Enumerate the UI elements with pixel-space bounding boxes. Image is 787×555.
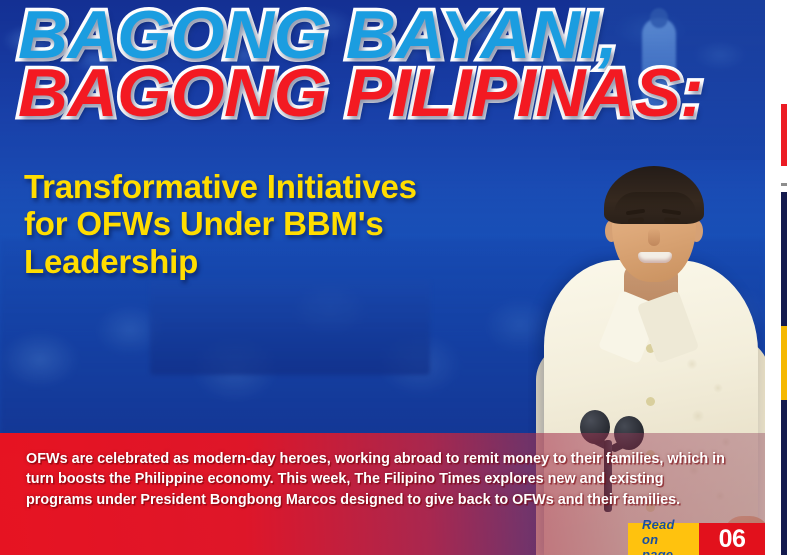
read-on-page-number[interactable]: 06 [699, 523, 765, 555]
sliver-navy-bar-bottom [781, 400, 787, 555]
read-on-page-label[interactable]: Read on page [628, 523, 699, 555]
cover-panel: BAGONG BAYANI, BAGONG PILIPINAS: Transfo… [0, 0, 765, 555]
sliver-gold-bar [781, 326, 787, 400]
next-page-sliver [781, 0, 787, 555]
subtitle-line-1: Transformative Initiatives [24, 168, 569, 205]
subtitle: Transformative Initiatives for OFWs Unde… [24, 168, 569, 280]
headline-line-2: BAGONG PILIPINAS: [18, 64, 763, 122]
sliver-red-bar [781, 104, 787, 166]
portrait-nose [648, 228, 660, 246]
summary-text: OFWs are celebrated as modern-day heroes… [26, 449, 726, 510]
read-on-page-badge[interactable]: Read on page 06 [628, 523, 765, 555]
headline: BAGONG BAYANI, BAGONG PILIPINAS: [18, 6, 748, 123]
sliver-navy-bar-top [781, 192, 787, 326]
portrait-hair [604, 166, 704, 224]
sliver-grey-tick [781, 183, 787, 186]
portrait-mouth [638, 252, 672, 263]
subtitle-line-2: for OFWs Under BBM's [24, 205, 569, 242]
newspaper-cover-page: BAGONG BAYANI, BAGONG PILIPINAS: Transfo… [0, 0, 787, 555]
subtitle-line-3: Leadership [24, 243, 569, 280]
